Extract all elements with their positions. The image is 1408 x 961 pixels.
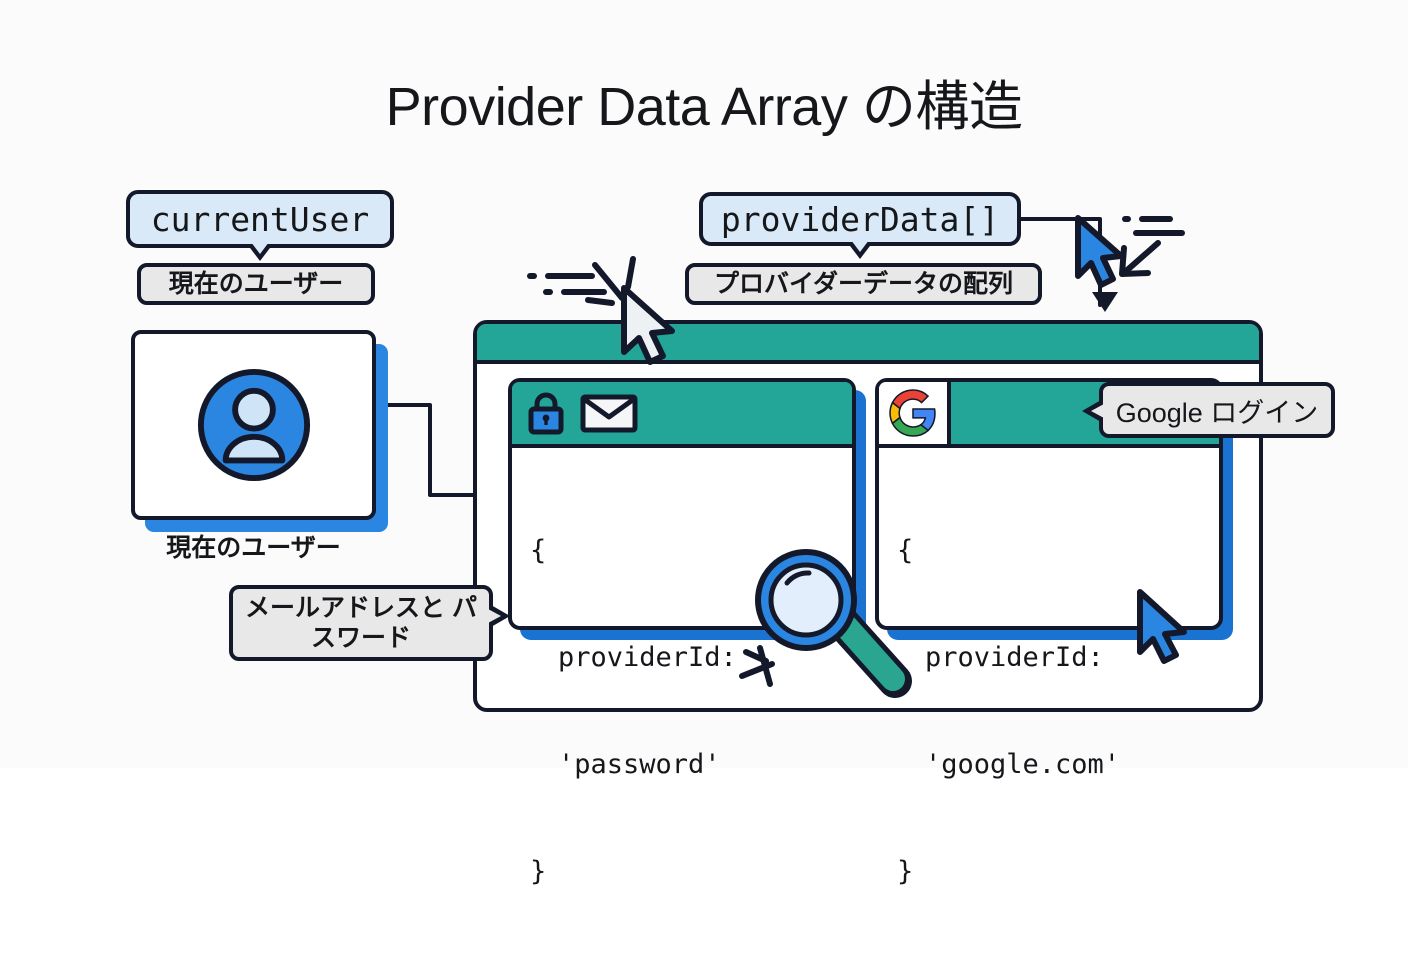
cursor-blue-top-right (1078, 218, 1121, 285)
user-avatar-icon (195, 366, 313, 484)
callout-current-user[interactable]: currentUser (126, 190, 394, 248)
dash-lines (530, 276, 604, 292)
card-code-password: { providerId: 'password' } (512, 448, 852, 626)
callout-provider-data[interactable]: providerData[] (699, 192, 1021, 246)
diagonal-arrow-icon (1122, 243, 1158, 274)
code-close-brace: } (897, 854, 1201, 890)
google-g-icon (890, 390, 936, 436)
card-code-google: { providerId: 'google.com' } (879, 448, 1219, 626)
down-arrow-icon (1092, 292, 1118, 312)
envelope-icon (580, 392, 638, 434)
current-user-card[interactable] (131, 330, 376, 520)
click-sparkle-icon (588, 259, 633, 303)
label-current-user: 現在のユーザー (137, 263, 375, 305)
window-titlebar (477, 324, 1259, 364)
code-key: providerId: (897, 640, 1201, 676)
page-title: Provider Data Array の構造 (0, 62, 1408, 141)
code-open-brace: { (530, 533, 834, 569)
google-logo-tile (879, 382, 951, 444)
callout-email-password[interactable]: メールアドレスと パスワード (229, 585, 493, 661)
code-open-brace: { (897, 533, 1201, 569)
dash-lines-right (1125, 219, 1182, 233)
code-value: 'google.com' (897, 747, 1201, 783)
code-close-brace: } (530, 854, 834, 890)
label-provider-data: プロバイダーデータの配列 (685, 263, 1042, 305)
card-header-password (512, 382, 852, 448)
current-user-caption: 現在のユーザー (131, 528, 376, 564)
diagram-canvas: Provider Data Array の構造 現在のユーザー (0, 0, 1408, 768)
provider-card-password[interactable]: { providerId: 'password' } (508, 378, 856, 630)
code-key: providerId: (530, 640, 834, 676)
lock-icon (526, 391, 566, 435)
connector-user-to-window (378, 405, 478, 495)
callout-google-login[interactable]: Google ログイン (1099, 382, 1335, 438)
code-value: 'password' (530, 747, 834, 783)
